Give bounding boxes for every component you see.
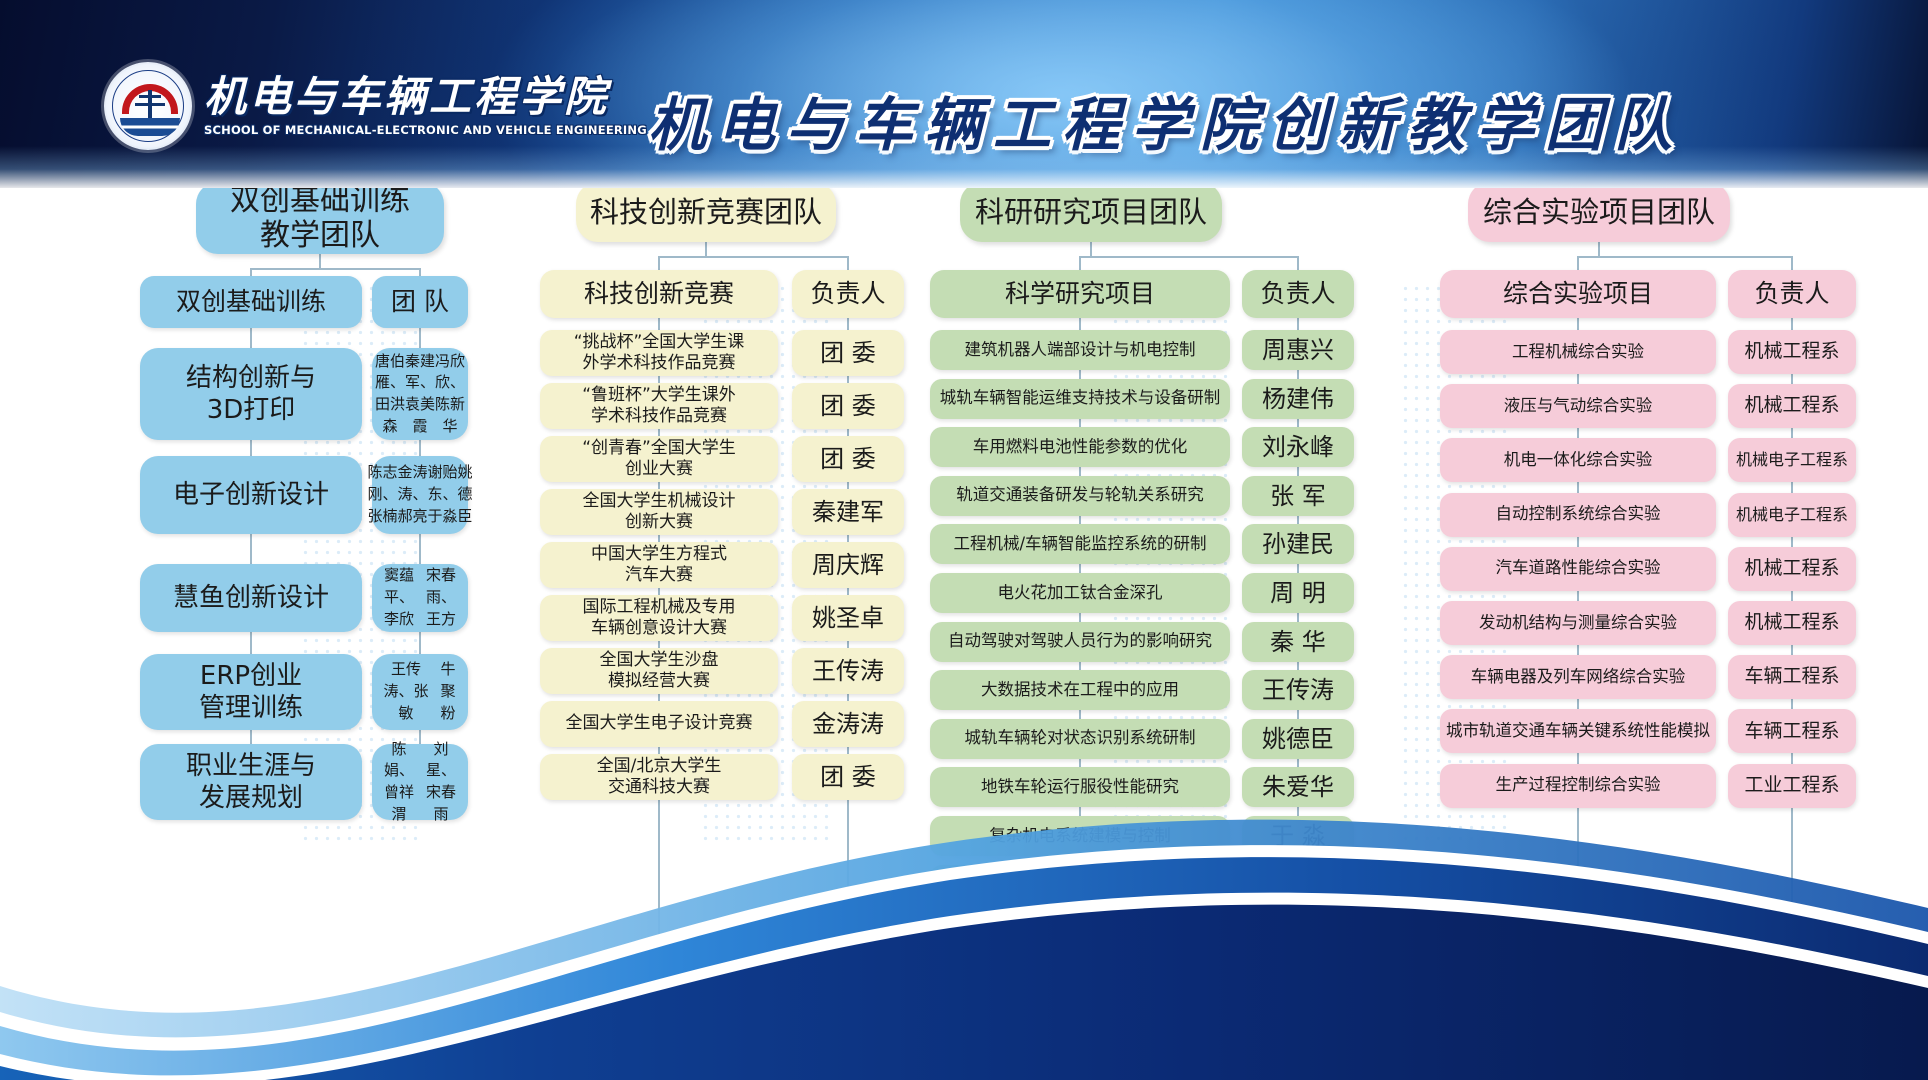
col-research-project-title[interactable]: 科研研究项目团队 <box>960 188 1222 242</box>
col-innovation-basic-training-title[interactable]: 双创基础训练教学团队 <box>196 188 444 254</box>
col-tech-innovation-competition-left-header[interactable]: 科技创新竞赛 <box>540 270 778 318</box>
col-comprehensive-experiment-right-header[interactable]: 负责人 <box>1728 270 1856 318</box>
project-node[interactable]: 机电一体化综合实验 <box>1440 438 1716 482</box>
owner-node[interactable]: 机械工程系 <box>1728 601 1856 645</box>
node-line: 全国大学生沙盘 <box>600 650 719 670</box>
node-line: 创业大赛 <box>625 459 693 479</box>
project-node[interactable]: 工程机械综合实验 <box>1440 330 1716 374</box>
node-line: “鲁班杯”大学生课外 <box>582 385 736 405</box>
col-tech-innovation-competition-right-header[interactable]: 负责人 <box>792 270 904 318</box>
col-comprehensive-experiment-title[interactable]: 综合实验项目团队 <box>1468 188 1730 242</box>
owner-node[interactable]: 车辆工程系 <box>1728 709 1856 753</box>
owner-node[interactable]: 秦 华 <box>1242 622 1354 662</box>
project-node[interactable]: 大数据技术在工程中的应用 <box>930 670 1230 710</box>
project-node[interactable]: 液压与气动综合实验 <box>1440 384 1716 428</box>
owner-node[interactable]: 周庆辉 <box>792 542 904 588</box>
owner-node[interactable]: 机械电子工程系 <box>1728 493 1856 537</box>
member-line: 冯欣欣、陈新华 <box>435 351 465 438</box>
project-node[interactable]: 城轨车辆智能运维支持技术与设备研制 <box>930 379 1230 419</box>
project-node[interactable]: 发动机结构与测量综合实验 <box>1440 601 1716 645</box>
owner-node[interactable]: 机械工程系 <box>1728 384 1856 428</box>
owner-node[interactable]: 周 明 <box>1242 573 1354 613</box>
owner-node[interactable]: 王传涛 <box>792 648 904 694</box>
project-node[interactable]: 城市轨道交通车辆关键系统性能模拟 <box>1440 709 1716 753</box>
project-node[interactable]: 建筑机器人端部设计与机电控制 <box>930 330 1230 370</box>
connector-line <box>847 256 849 270</box>
owner-node[interactable]: 机械电子工程系 <box>1728 438 1856 482</box>
project-node[interactable]: 全国大学生沙盘模拟经营大赛 <box>540 648 778 694</box>
owner-node[interactable]: 杨建伟 <box>1242 379 1354 419</box>
col-innovation-basic-training-right-header[interactable]: 团 队 <box>372 276 468 328</box>
node-line: 全国/北京大学生 <box>597 756 722 776</box>
node-line: 全国大学生机械设计 <box>583 491 736 511</box>
col-comprehensive-experiment-left-header[interactable]: 综合实验项目 <box>1440 270 1716 318</box>
owner-node[interactable]: 秦建军 <box>792 489 904 535</box>
page-header: 机电与车辆工程学院 SCHOOL OF MECHANICAL-ELECTRONI… <box>0 0 1928 188</box>
project-node[interactable]: 电火花加工钛合金深孔 <box>930 573 1230 613</box>
project-node[interactable]: 自动控制系统综合实验 <box>1440 493 1716 537</box>
member-line: 窦蕴平、李欣 <box>378 565 420 630</box>
connector-line <box>1598 242 1600 258</box>
node-line: “创青春”全国大学生 <box>582 438 736 458</box>
decorative-wave <box>0 780 1928 1080</box>
connector-line <box>1079 256 1297 258</box>
school-logo: 机电与车辆工程学院 SCHOOL OF MECHANICAL-ELECTRONI… <box>104 62 647 150</box>
owner-node[interactable]: 车辆工程系 <box>1728 655 1856 699</box>
node-line: 汽车大赛 <box>625 565 693 585</box>
poster-main-title: 机电与车辆工程学院创新教学团队 <box>648 78 1683 162</box>
col-tech-innovation-competition-title[interactable]: 科技创新竞赛团队 <box>576 188 836 242</box>
course-node[interactable]: 慧鱼创新设计 <box>140 564 362 632</box>
project-node[interactable]: 全国大学生电子设计竞赛 <box>540 701 778 747</box>
connector-line <box>705 242 707 258</box>
project-node[interactable]: 中国大学生方程式汽车大赛 <box>540 542 778 588</box>
project-node[interactable]: “创青春”全国大学生创业大赛 <box>540 436 778 482</box>
owner-node[interactable]: 机械工程系 <box>1728 547 1856 591</box>
owner-node[interactable]: 周惠兴 <box>1242 330 1354 370</box>
node-line: ERP创业 <box>200 661 302 691</box>
member-line: 唐伯雁、田洪森 <box>375 351 405 438</box>
owner-node[interactable]: 团 委 <box>792 383 904 429</box>
owner-node[interactable]: 王传涛 <box>1242 670 1354 710</box>
owner-node[interactable]: 姚德臣 <box>1242 719 1354 759</box>
project-node[interactable]: “鲁班杯”大学生课外学术科技作品竞赛 <box>540 383 778 429</box>
connector-line <box>419 268 421 276</box>
course-node[interactable]: 电子创新设计 <box>140 456 362 534</box>
owner-node[interactable]: 团 委 <box>792 330 904 376</box>
connector-line <box>1079 256 1081 270</box>
connector-line <box>250 268 252 276</box>
project-node[interactable]: 城轨车辆轮对状态识别系统研制 <box>930 719 1230 759</box>
col-research-project-left-header[interactable]: 科学研究项目 <box>930 270 1230 318</box>
poster-body: 双创基础训练教学团队双创基础训练团 队结构创新与3D打印唐伯雁、田洪森秦建军、袁… <box>0 188 1928 1080</box>
owner-node[interactable]: 机械工程系 <box>1728 330 1856 374</box>
owner-node[interactable]: 张 军 <box>1242 476 1354 516</box>
member-line: 金涛涛、郝亮 <box>398 462 428 527</box>
project-node[interactable]: “挑战杯”全国大学生课外学术科技作品竞赛 <box>540 330 778 376</box>
team-members-node[interactable]: 窦蕴平、李欣宋春雨、王方 <box>372 564 468 632</box>
member-line: 秦建军、袁美霞 <box>405 351 435 438</box>
member-line: 王传涛、张敏 <box>378 659 434 724</box>
node-line: 模拟经营大赛 <box>608 671 710 691</box>
node-line: 创新大赛 <box>625 512 693 532</box>
connector-line <box>658 256 847 258</box>
project-node[interactable]: 工程机械/车辆智能监控系统的研制 <box>930 524 1230 564</box>
owner-node[interactable]: 孙建民 <box>1242 524 1354 564</box>
school-seal-icon <box>104 62 192 150</box>
owner-node[interactable]: 金涛涛 <box>792 701 904 747</box>
node-line: 学术科技作品竞赛 <box>591 406 727 426</box>
member-line: 谢贻东、于淼 <box>428 462 458 527</box>
title-line-1: 双创基础训练 <box>230 188 410 218</box>
node-line: 国际工程机械及专用 <box>583 597 736 617</box>
connector-line <box>658 256 660 270</box>
node-line: 3D打印 <box>207 395 296 425</box>
school-name-cn: 机电与车辆工程学院 <box>204 76 647 118</box>
node-line: 职业生涯与 <box>186 751 316 781</box>
connector-line <box>1791 256 1793 270</box>
member-line: 牛聚粉 <box>434 659 462 724</box>
school-name-en: SCHOOL OF MECHANICAL-ELECTRONIC AND VEHI… <box>204 123 647 137</box>
col-innovation-basic-training-left-header[interactable]: 双创基础训练 <box>140 276 362 328</box>
node-line: 外学术科技作品竞赛 <box>583 353 736 373</box>
title-line-2: 教学团队 <box>260 218 380 253</box>
course-node[interactable]: ERP创业管理训练 <box>140 654 362 730</box>
node-line: 车辆创意设计大赛 <box>591 618 727 638</box>
owner-node[interactable]: 刘永峰 <box>1242 427 1354 467</box>
project-node[interactable]: 车辆电器及列车网络综合实验 <box>1440 655 1716 699</box>
member-line: 宋春雨、王方 <box>420 565 462 630</box>
owner-node[interactable]: 团 委 <box>792 436 904 482</box>
member-line: 姚德臣 <box>458 462 473 527</box>
node-line: 管理训练 <box>199 693 303 723</box>
node-line: “挑战杯”全国大学生课 <box>574 332 745 352</box>
project-node[interactable]: 国际工程机械及专用车辆创意设计大赛 <box>540 595 778 641</box>
connector-line <box>1090 242 1092 258</box>
project-node[interactable]: 汽车道路性能综合实验 <box>1440 547 1716 591</box>
team-members-node[interactable]: 唐伯雁、田洪森秦建军、袁美霞冯欣欣、陈新华 <box>372 348 468 440</box>
project-node[interactable]: 车用燃料电池性能参数的优化 <box>930 427 1230 467</box>
col-research-project-right-header[interactable]: 负责人 <box>1242 270 1354 318</box>
connector-line <box>1577 256 1791 258</box>
connector-line <box>250 268 419 270</box>
project-node[interactable]: 自动驾驶对驾驶人员行为的影响研究 <box>930 622 1230 662</box>
node-line: 中国大学生方程式 <box>591 544 727 564</box>
team-members-node[interactable]: 陈志刚、张楠金涛涛、郝亮谢贻东、于淼姚德臣 <box>372 456 468 534</box>
project-node[interactable]: 全国大学生机械设计创新大赛 <box>540 489 778 535</box>
connector-line <box>319 254 321 270</box>
team-members-node[interactable]: 王传涛、张敏牛聚粉 <box>372 654 468 730</box>
course-node[interactable]: 结构创新与3D打印 <box>140 348 362 440</box>
connector-line <box>1577 256 1579 270</box>
project-node[interactable]: 轨道交通装备研发与轮轨关系研究 <box>930 476 1230 516</box>
owner-node[interactable]: 姚圣卓 <box>792 595 904 641</box>
node-line: 结构创新与 <box>186 363 316 393</box>
connector-line <box>1297 256 1299 270</box>
member-line: 陈志刚、张楠 <box>368 462 398 527</box>
